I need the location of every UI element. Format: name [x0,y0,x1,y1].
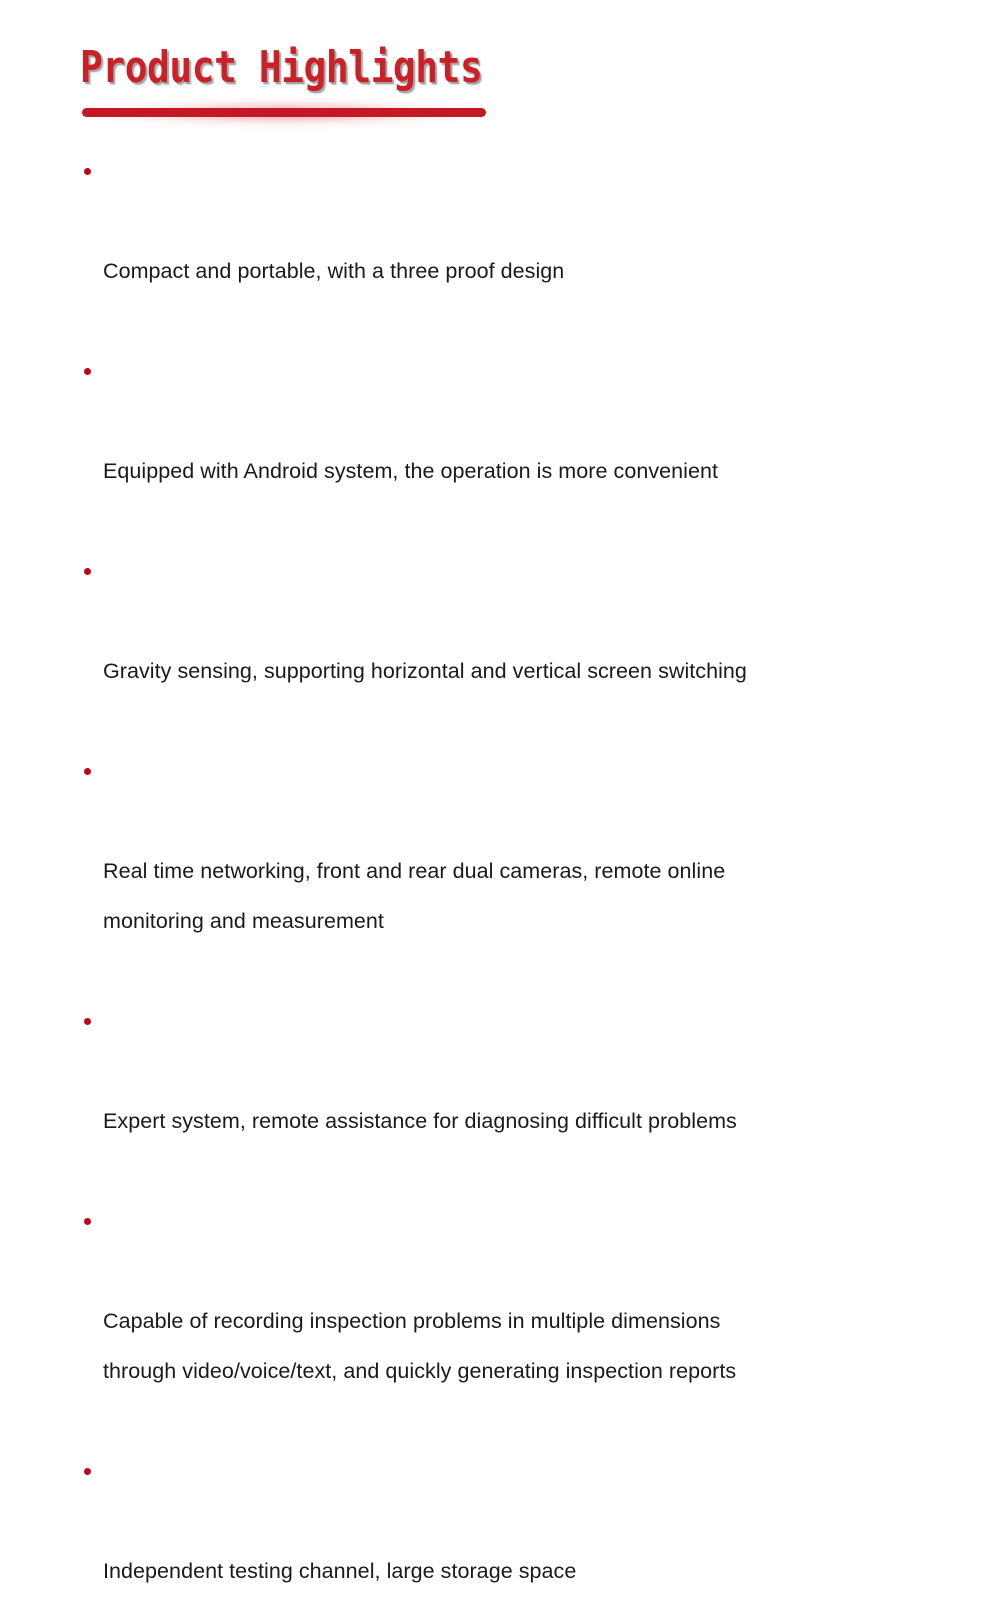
bullet-dot-icon [84,168,91,175]
list-item-text: Real time networking, front and rear dua… [103,846,960,946]
bullet-dot-icon [84,568,91,575]
page-title: Product Highlights [80,42,482,94]
title-underline-bar [82,108,486,117]
bullet-dot-icon [84,368,91,375]
list-item: Compact and portable, with a three proof… [80,146,960,346]
list-item-text: Independent testing channel, large stora… [103,1546,960,1596]
bullet-dot-icon [84,1018,91,1025]
bullet-dot-icon [84,768,91,775]
list-item-text: Compact and portable, with a three proof… [103,246,960,296]
highlights-bullet-list: Compact and portable, with a three proof… [80,146,960,1600]
list-item: Real time networking, front and rear dua… [80,746,960,996]
slide-canvas: Product Highlights Compact and portable,… [0,0,1000,800]
list-item-text: Equipped with Android system, the operat… [103,446,960,496]
list-item-text: Gravity sensing, supporting horizontal a… [103,646,960,696]
list-item-text: Expert system, remote assistance for dia… [103,1096,960,1146]
list-item-text: Capable of recording inspection problems… [103,1296,960,1396]
list-item: Equipped with Android system, the operat… [80,346,960,546]
bullet-dot-icon [84,1218,91,1225]
list-item: Capable of recording inspection problems… [80,1196,960,1446]
bullet-dot-icon [84,1468,91,1475]
list-item: Expert system, remote assistance for dia… [80,996,960,1196]
list-item: Gravity sensing, supporting horizontal a… [80,546,960,746]
list-item: Independent testing channel, large stora… [80,1446,960,1600]
